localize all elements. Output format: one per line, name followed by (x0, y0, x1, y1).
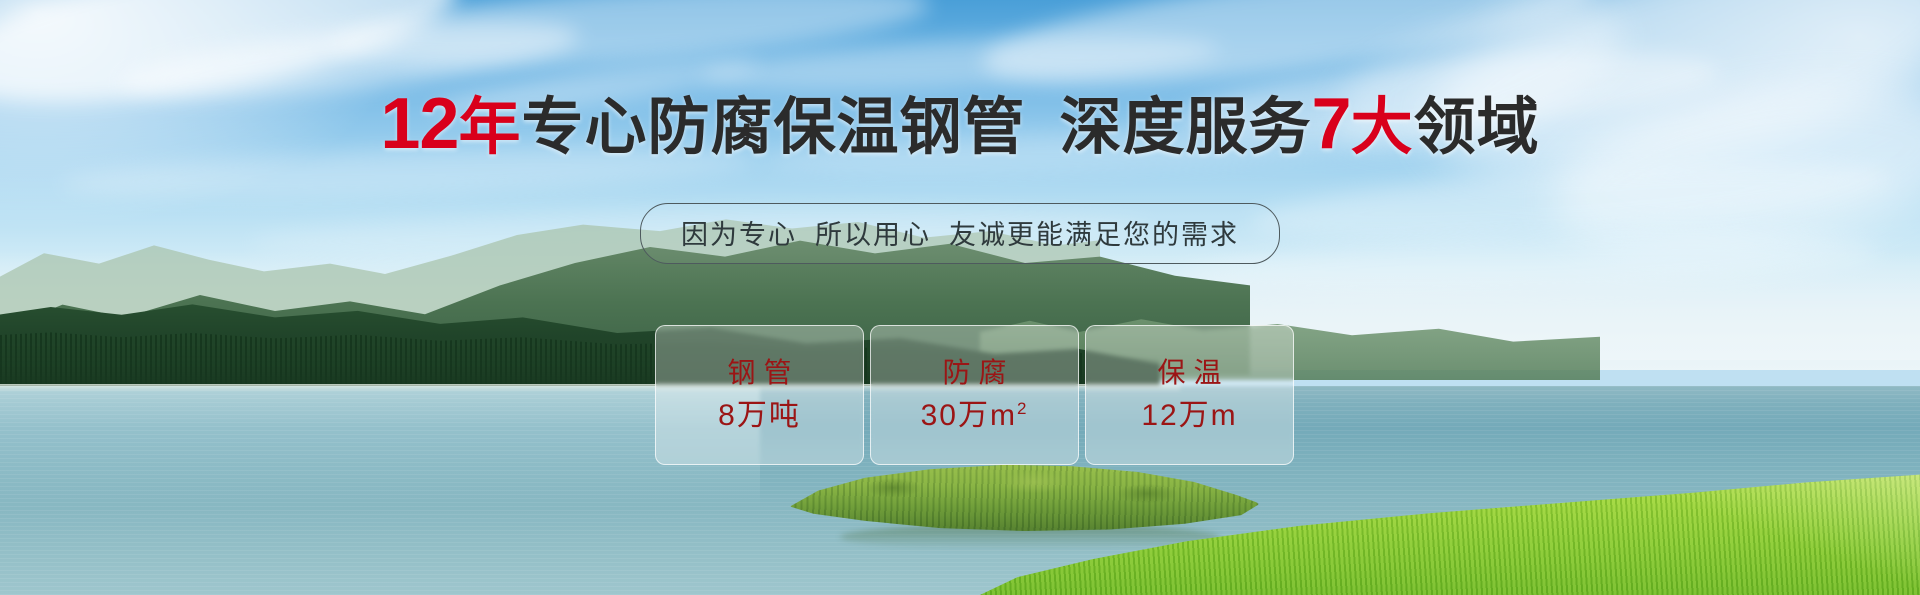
stat-card-label: 保温 (1149, 359, 1229, 387)
stat-card-insulation[interactable]: 保温 12万m (1085, 325, 1294, 465)
stat-card-anticorrosion[interactable]: 防腐 30万m2 (870, 325, 1079, 465)
stat-card-label: 防腐 (934, 359, 1014, 387)
stat-card-steel-pipe[interactable]: 钢管 8万吨 (655, 325, 864, 465)
headline-segment-specialty: 专心防腐保温钢管 (522, 93, 1026, 162)
banner-content: 12年专心防腐保温钢管深度服务7大领域 因为专心所以用心友诚更能满足您的需求 钢… (0, 0, 1920, 595)
stat-card-value: 30万m2 (921, 401, 1029, 431)
stat-card-value-text: 8万吨 (718, 399, 801, 432)
headline-fields-number: 7 (1312, 84, 1351, 164)
subtitle-part-1: 因为专心 (681, 220, 797, 250)
subtitle-part-2: 所以用心 (815, 220, 931, 250)
stat-card-value: 12万m (1141, 401, 1237, 431)
headline-fields-unit: 大 (1351, 93, 1414, 162)
promotional-banner: 12年专心防腐保温钢管深度服务7大领域 因为专心所以用心友诚更能满足您的需求 钢… (0, 0, 1920, 595)
stat-card-label: 钢管 (719, 359, 799, 387)
stat-card-value-text: 12万m (1141, 399, 1237, 432)
headline-years-number: 12 (380, 84, 458, 164)
stat-card-value: 8万吨 (718, 401, 801, 431)
banner-headline: 12年专心防腐保温钢管深度服务7大领域 (0, 88, 1920, 160)
headline-segment-fields: 领域 (1414, 93, 1540, 162)
banner-subtitle-pill: 因为专心所以用心友诚更能满足您的需求 (640, 203, 1280, 264)
stat-card-value-superscript: 2 (1017, 399, 1028, 418)
headline-segment-service: 深度服务 (1060, 93, 1312, 162)
stat-card-value-text: 30万m (921, 399, 1017, 432)
stat-card-group: 钢管 8万吨 防腐 30万m2 保温 12万m (655, 325, 1294, 465)
headline-years-unit: 年 (458, 93, 521, 162)
subtitle-part-3: 友诚更能满足您的需求 (949, 220, 1239, 250)
